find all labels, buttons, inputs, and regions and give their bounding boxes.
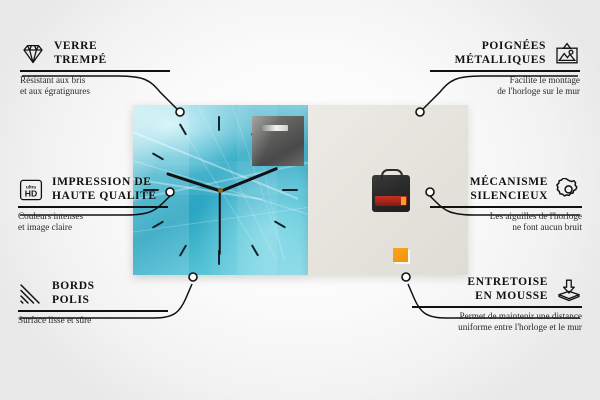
ultra-hd-badge-icon: ultra HD bbox=[18, 178, 44, 202]
callout-header: MÉCANISME SILENCIEUX bbox=[430, 176, 582, 203]
callout-desc-line2: de l'horloge sur le mur bbox=[430, 86, 580, 97]
callout-desc-line2: et aux égratignures bbox=[20, 86, 170, 97]
callout-header: ENTRETOISE EN MOUSSE bbox=[412, 276, 582, 303]
hour-hand bbox=[166, 172, 220, 193]
callout-desc-line2: uniforme entre l'horloge et le mur bbox=[412, 322, 582, 333]
callout-desc-line1: Facilite le montage bbox=[430, 75, 580, 86]
callout-header: ultra HD IMPRESSION DE HAUTE QUALITÉ bbox=[18, 176, 168, 203]
infographic-stage: VERRE TREMPÉ Résistant aux bris et aux é… bbox=[0, 0, 600, 400]
callout-header: VERRE TREMPÉ bbox=[20, 40, 170, 67]
minute-hand bbox=[219, 166, 278, 192]
callout-impression-haute-qualite: ultra HD IMPRESSION DE HAUTE QUALITÉ Cou… bbox=[18, 176, 168, 234]
center-pin bbox=[218, 188, 223, 193]
callout-header: BORDS POLIS bbox=[18, 280, 168, 307]
battery-terminal bbox=[401, 197, 406, 205]
tick-mark bbox=[274, 221, 286, 229]
callout-title: POIGNÉES MÉTALLIQUES bbox=[455, 40, 546, 67]
tick-mark bbox=[179, 123, 187, 135]
title-rule bbox=[412, 306, 582, 308]
callout-poignees-metalliques: POIGNÉES MÉTALLIQUES Facilite le montage… bbox=[430, 40, 580, 98]
second-hand bbox=[219, 191, 221, 255]
title-rule bbox=[430, 70, 580, 72]
callout-desc-line2: ne font aucun bruit bbox=[430, 222, 582, 233]
framed-picture-icon bbox=[554, 42, 580, 66]
tick-mark bbox=[179, 244, 187, 256]
callout-header: POIGNÉES MÉTALLIQUES bbox=[430, 40, 580, 67]
tick-mark bbox=[251, 244, 259, 256]
foam-spacer-icon bbox=[556, 278, 582, 302]
title-rule bbox=[430, 206, 582, 208]
callout-title: IMPRESSION DE HAUTE QUALITÉ bbox=[52, 176, 157, 203]
tick-mark bbox=[282, 189, 298, 191]
battery bbox=[375, 196, 407, 206]
metal-hanger-plate bbox=[252, 116, 304, 166]
callout-desc-line2: et image claire bbox=[18, 222, 168, 233]
callout-verre-trempe: VERRE TREMPÉ Résistant aux bris et aux é… bbox=[20, 40, 170, 98]
callout-desc-line1: Surface lisse et sûre bbox=[18, 315, 168, 326]
polished-edges-icon bbox=[18, 282, 44, 306]
callout-title: MÉCANISME SILENCIEUX bbox=[470, 176, 548, 203]
foam-spacer bbox=[393, 248, 408, 262]
callout-title: BORDS POLIS bbox=[52, 280, 95, 307]
title-rule bbox=[18, 206, 168, 208]
callout-desc-line1: Résistant aux bris bbox=[20, 75, 170, 86]
svg-text:HD: HD bbox=[25, 188, 37, 198]
title-rule bbox=[20, 70, 170, 72]
callout-bords-polis: BORDS POLIS Surface lisse et sûre bbox=[18, 280, 168, 326]
callout-desc-line1: Les aiguilles de l'horloge bbox=[430, 211, 582, 222]
gear-icon bbox=[556, 178, 582, 202]
callout-desc-line1: Couleurs intenses bbox=[18, 211, 168, 222]
hanger-slot bbox=[262, 125, 288, 131]
tick-mark bbox=[218, 116, 220, 131]
title-rule bbox=[18, 310, 168, 312]
callout-title: VERRE TREMPÉ bbox=[54, 40, 107, 67]
callout-mecanisme-silencieux: MÉCANISME SILENCIEUX Les aiguilles de l'… bbox=[430, 176, 582, 234]
callout-title: ENTRETOISE EN MOUSSE bbox=[467, 276, 548, 303]
tick-mark bbox=[152, 153, 164, 161]
diamond-icon bbox=[20, 42, 46, 66]
clock-mechanism bbox=[372, 175, 410, 212]
callout-entretoise-en-mousse: ENTRETOISE EN MOUSSE Permet de maintenir… bbox=[412, 276, 582, 334]
mechanism-hook bbox=[381, 169, 403, 181]
callout-desc-line1: Permet de maintenir une distance bbox=[412, 311, 582, 322]
